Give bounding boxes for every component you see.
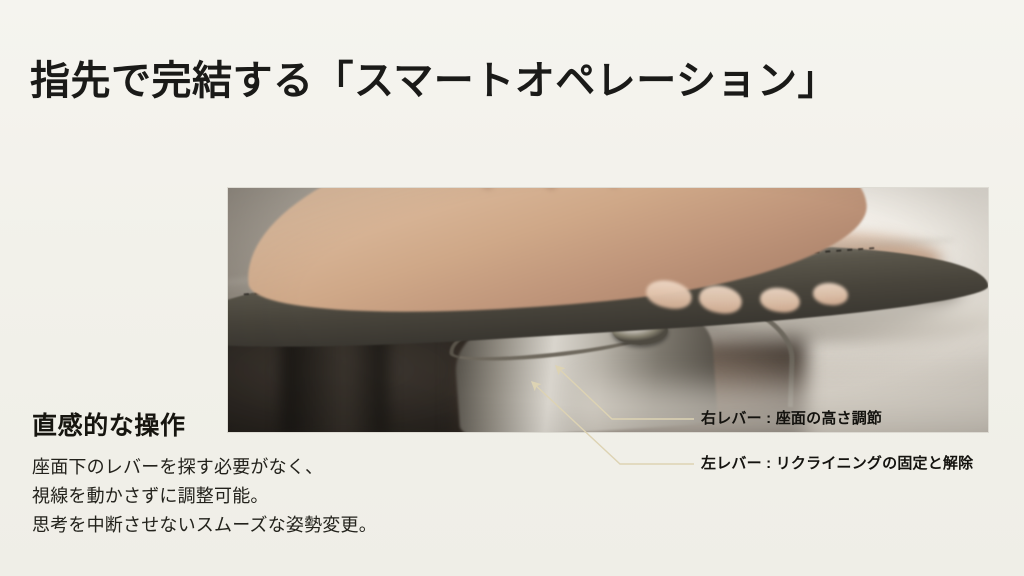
page-title: 指先で完結する「スマートオペレーション」 xyxy=(30,58,970,105)
product-photo xyxy=(228,188,988,432)
callout-label-right-lever: 右レバー : 座面の高さ調節 xyxy=(701,407,882,428)
photo-content xyxy=(228,188,988,432)
body-text-line: 座面下のレバーを探す必要がなく、 xyxy=(32,453,377,482)
slide-canvas: 指先で完結する「スマートオペレーション」 xyxy=(0,0,1024,576)
body-text-line: 視線を動かさずに調整可能。 xyxy=(32,482,377,511)
photo-vignette xyxy=(228,188,988,432)
body-text-line: 思考を中断させないスムーズな姿勢変更。 xyxy=(32,511,377,540)
body-text-block: 座面下のレバーを探す必要がなく、 視線を動かさずに調整可能。 思考を中断させない… xyxy=(32,453,377,540)
callout-label-left-lever: 左レバー : リクライニングの固定と解除 xyxy=(701,452,973,473)
section-subheading: 直感的な操作 xyxy=(32,406,186,442)
